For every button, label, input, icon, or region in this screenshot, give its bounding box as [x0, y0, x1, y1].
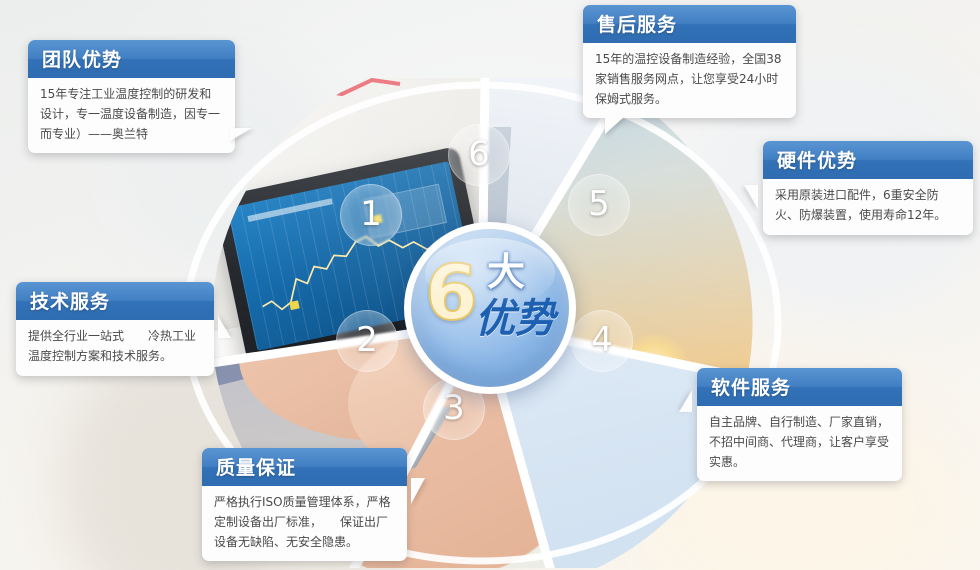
center-badge[interactable]: 6 大 优势	[404, 222, 576, 394]
callout-after-sales[interactable]: 售后服务 15年的温控设备制造经验，全国38家销售服务网点，让您享受24小时保姆…	[583, 5, 796, 118]
callout-tail	[218, 316, 231, 338]
segment-number-6[interactable]: 6	[448, 124, 510, 186]
segment-number-2[interactable]: 2	[336, 310, 398, 372]
callout-team-advantage[interactable]: 团队优势 15年专注工业温度控制的研发和设计，专一温度设备制造，因专一而专业）—…	[28, 40, 235, 153]
callout-hardware-advantage[interactable]: 硬件优势 采用原装进口配件，6重安全防火、防爆装置，使用寿命12年。	[763, 141, 973, 235]
callout-title: 硬件优势	[763, 141, 973, 179]
callout-tail	[744, 185, 758, 209]
callout-title: 技术服务	[16, 282, 214, 320]
callout-tail	[230, 128, 252, 141]
callout-tail	[411, 478, 425, 504]
callout-title: 售后服务	[583, 5, 796, 43]
center-big-word: 大	[487, 253, 525, 291]
callout-body: 15年专注工业温度控制的研发和设计，专一温度设备制造，因专一而专业）——奥兰特	[28, 78, 235, 153]
callout-tail	[679, 390, 692, 412]
segment-number-5[interactable]: 5	[568, 174, 630, 236]
callout-body: 自主品牌、自行制造、厂家直销，不招中间商、代理商，让客户享受实惠。	[697, 406, 902, 481]
callout-software-service[interactable]: 软件服务 自主品牌、自行制造、厂家直销，不招中间商、代理商，让客户享受实惠。	[697, 368, 902, 481]
callout-quality-assurance[interactable]: 质量保证 严格执行ISO质量管理体系，严格定制设备出厂标准， 保证出厂设备无缺陷…	[202, 448, 407, 561]
center-sub-word: 优势	[475, 299, 555, 339]
segment-number-1[interactable]: 1	[340, 184, 402, 246]
callout-title: 质量保证	[202, 448, 407, 486]
center-number: 6	[425, 255, 478, 331]
advantages-infographic: 1 6 5 4 3 2 6 大 优势 团队优势 15年专注工业温度控制的研发和设…	[0, 0, 980, 570]
callout-body: 采用原装进口配件，6重安全防火、防爆装置，使用寿命12年。	[763, 179, 973, 235]
callout-technical-service[interactable]: 技术服务 提供全行业一站式 冷热工业温度控制方案和技术服务。	[16, 282, 214, 376]
segment-number-4[interactable]: 4	[571, 310, 633, 372]
callout-body: 严格执行ISO质量管理体系，严格定制设备出厂标准， 保证出厂设备无缺陷、无安全隐…	[202, 486, 407, 561]
callout-tail	[605, 116, 625, 134]
callout-title: 软件服务	[697, 368, 902, 406]
callout-body: 15年的温控设备制造经验，全国38家销售服务网点，让您享受24小时保姆式服务。	[583, 43, 796, 118]
callout-title: 团队优势	[28, 40, 235, 78]
callout-body: 提供全行业一站式 冷热工业温度控制方案和技术服务。	[16, 320, 214, 376]
